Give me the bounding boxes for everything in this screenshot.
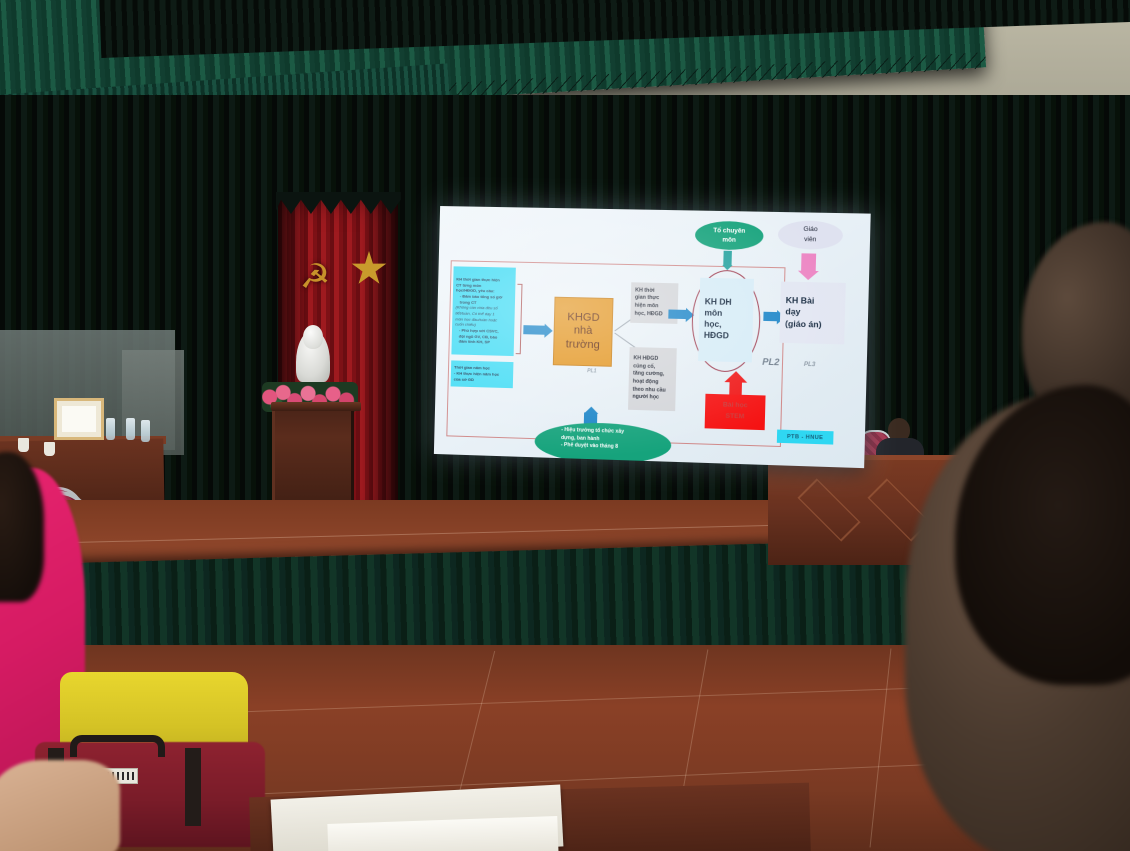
easel-frame — [54, 398, 104, 440]
khbai-line3: (giáo án) — [785, 318, 845, 331]
water-bottle — [106, 418, 115, 440]
podium-top — [271, 402, 361, 411]
khgd-nha-truong-box: KHGD nhà trường — [553, 297, 614, 367]
gray2-line6: người học — [632, 394, 671, 403]
khgd-line2: nhà — [574, 325, 593, 339]
to-chuyen-mon-ellipse: Tổ chuyên môn — [695, 221, 764, 251]
foreground-person-left-arm — [0, 760, 120, 851]
khdh-line4: HĐGD — [704, 331, 753, 343]
kh-bai-day-box: KH Bài dạy (giáo án) — [779, 282, 845, 345]
giao-vien-ellipse: Giáo viên — [778, 220, 844, 250]
pl3-label: PL3 — [804, 362, 816, 368]
cyan-info-box-1: KH thời gian thực hiện CT từng môn học/H… — [451, 266, 515, 356]
khgd-line3: trường — [566, 338, 600, 353]
kh-hdgd-box: KH HĐGD củng cố, tăng cường, hoạt động t… — [628, 347, 677, 411]
giao-vien-line1: Giáo — [803, 225, 817, 235]
easel-paper — [62, 406, 96, 432]
arrow-to-chuyen-mon-down — [723, 251, 732, 265]
to-chuyen-mon-line2: môn — [713, 235, 745, 245]
bag-handle — [70, 735, 165, 757]
ptb-hnue-badge: PTB - HNUE — [777, 430, 834, 445]
water-bottle — [126, 418, 135, 440]
kh-dh-mon-hoc-box: KH DH môn học, HĐGD — [698, 278, 754, 363]
arrow-cyan-to-khgd — [523, 325, 545, 335]
hieu-truong-line3: - Phê duyệt vào tháng 8 — [561, 442, 653, 453]
to-chuyen-mon-line1: Tổ chuyên — [713, 226, 745, 236]
water-bottle — [141, 420, 150, 442]
cyan-info-box-2: Thời gian năm học - KH thực hiện năm học… — [451, 360, 514, 388]
khgd-line1: KHGD — [567, 311, 600, 326]
pl1-label: PL1 — [587, 368, 596, 374]
desk-panel-motif — [797, 478, 860, 541]
pl2-label: PL2 — [762, 357, 779, 368]
paper-cup — [44, 442, 55, 456]
hammer-sickle-icon: ☭ — [299, 258, 331, 296]
arrow-khdh-to-khbaiday — [763, 312, 778, 322]
arrow-giao-vien-down — [801, 253, 816, 272]
cyan2-line3: của sở GD — [454, 376, 510, 383]
bag-strap — [185, 748, 201, 826]
conference-hall-photo: ☭ KH thời g — [0, 0, 1130, 851]
giao-vien-line2: viên — [803, 235, 817, 245]
cyan1-line12: đảm tính KH, SP — [455, 339, 511, 346]
stem-line1: Bài học — [723, 401, 748, 412]
stem-line2: STEM — [725, 412, 744, 423]
paper-cup — [18, 438, 29, 452]
projection-screen[interactable]: KH thời gian thực hiện CT từng môn học/H… — [434, 206, 871, 468]
bust-statue-head — [303, 325, 323, 349]
slide-content: KH thời gian thực hiện CT từng môn học/H… — [434, 206, 871, 468]
arrow-khgd-to-khdh — [668, 309, 687, 319]
bai-hoc-stem-box: Bài học STEM — [705, 394, 766, 430]
